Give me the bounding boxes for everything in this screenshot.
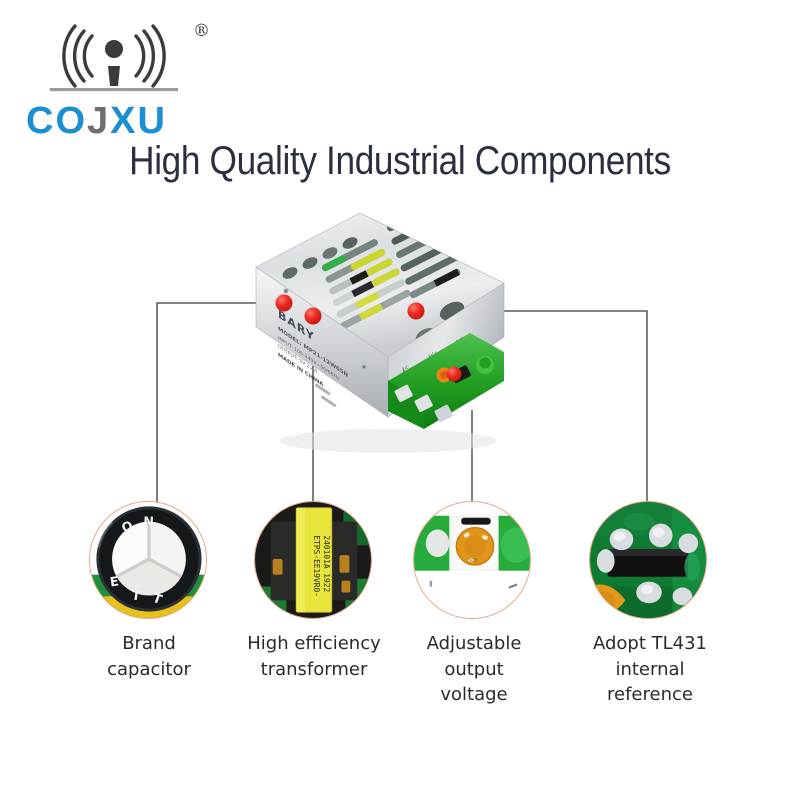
- svg-text:503: 503: [468, 558, 477, 564]
- caption-tl431-reference: Adopt TL431 internal reference: [574, 631, 726, 708]
- brand-wordmark-co: CO: [26, 100, 87, 142]
- brand-wordmark: COJXU: [26, 102, 167, 140]
- brand-wordmark-j: J: [87, 100, 110, 142]
- transformer-detail-image: ETPS-EE19VR0- 240101A 1922: [255, 502, 371, 618]
- caption-adjustable-voltage: Adjustable output voltage: [404, 631, 544, 708]
- tl431-ic-detail-image: [590, 502, 706, 618]
- wireless-signal-tower-icon: [34, 22, 194, 94]
- caption-brand-capacitor: Brand capacitor: [78, 631, 220, 682]
- product-image-power-supply: BARY MODEL: MP21-12W05N INPUT: 100-240V~…: [238, 205, 543, 470]
- brand-logo: ® COJXU: [18, 22, 228, 132]
- page-title: High Quality Industrial Components: [48, 139, 752, 184]
- callout-circle-brand-capacitor: O N E T T: [89, 501, 207, 619]
- capacitor-detail-image: O N E T T: [90, 502, 206, 618]
- marker-dot-potentiometer: [447, 367, 462, 382]
- callout-circle-transformer: ETPS-EE19VR0- 240101A 1922: [254, 501, 372, 619]
- infographic-page: ® COJXU High Quality Industrial Componen…: [0, 0, 800, 800]
- transformer-print-line1: ETPS-EE19VR0-: [312, 535, 321, 597]
- registered-trademark-icon: ®: [193, 23, 210, 40]
- marker-dot-capacitor: [276, 295, 293, 312]
- marker-dot-tl431: [408, 303, 425, 320]
- caption-transformer: High efficiency transformer: [228, 631, 400, 682]
- svg-text:N: N: [143, 515, 154, 530]
- brand-wordmark-xu: XU: [110, 100, 167, 142]
- callout-circle-tl431: [589, 501, 707, 619]
- callout-circle-potentiometer: 503: [413, 501, 531, 619]
- marker-dot-transformer: [305, 308, 322, 325]
- transformer-print-line2: 240101A 1922: [322, 535, 331, 592]
- potentiometer-detail-image: 503: [414, 502, 530, 618]
